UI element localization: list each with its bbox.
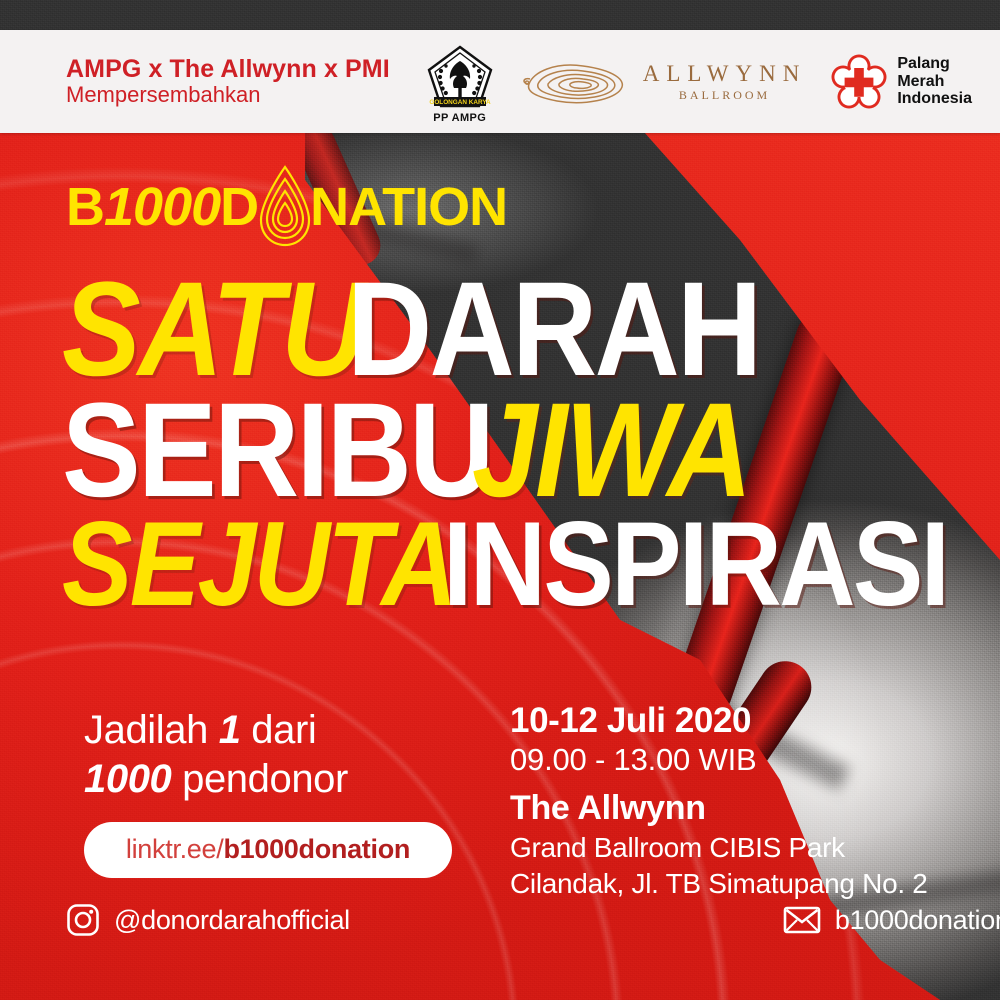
- instagram-handle: @donordarahofficial: [114, 905, 350, 936]
- brand-1000: 1000: [104, 180, 220, 234]
- event-address-line-2: Cilandak, Jl. TB Simatupang No. 2: [510, 866, 980, 901]
- headline-line-3: SEJUTA INSPIRASI: [62, 503, 962, 625]
- cta-word-pendonor: pendonor: [182, 757, 348, 801]
- email-contact[interactable]: b1000donation@gmail.com: [783, 905, 1000, 936]
- header-text-block: AMPG x The Allwynn x PMI Mempersembahkan: [66, 55, 390, 108]
- cta-number-thousand: 1000: [84, 757, 171, 801]
- allwynn-wordmark: ALLWYNN BALLROOM: [643, 62, 807, 101]
- event-date: 10-12 Juli 2020: [510, 700, 980, 741]
- pmi-line-1: Palang: [897, 55, 972, 73]
- linktree-button[interactable]: linktr.ee/b1000donation: [84, 822, 452, 878]
- brand-nation: NATION: [310, 180, 507, 234]
- cta-number-one: 1: [219, 708, 241, 752]
- cta-block: Jadilah 1 dari 1000 pendonor linktr.ee/b…: [84, 706, 484, 878]
- ampg-caption: PP AMPG: [433, 112, 486, 124]
- blood-drop-icon: [256, 163, 314, 259]
- campaign-wordmark: B 1000 D NATION: [66, 176, 507, 238]
- red-cross-icon: [830, 53, 888, 111]
- event-time: 09.00 - 13.00 WIB: [510, 741, 980, 780]
- allwynn-logo: ALLWYNN BALLROOM: [521, 54, 807, 110]
- header-subtitle: Mempersembahkan: [66, 83, 390, 108]
- event-venue: The Allwynn: [510, 786, 980, 830]
- cta-word-jadilah: Jadilah: [84, 708, 208, 752]
- brand-b: B: [66, 180, 104, 234]
- header-bar: AMPG x The Allwynn x PMI Mempersembahkan: [0, 30, 1000, 133]
- brand-d: D: [220, 180, 258, 234]
- instagram-icon: [66, 903, 100, 937]
- pmi-line-2: Merah: [897, 73, 972, 91]
- pmi-wordmark: Palang Merah Indonesia: [897, 55, 972, 109]
- poster-canvas: AMPG x The Allwynn x PMI Mempersembahkan: [0, 0, 1000, 1000]
- link-prefix: linktr.ee/: [126, 834, 224, 865]
- allwynn-sub: BALLROOM: [679, 89, 770, 101]
- pmi-logo: Palang Merah Indonesia: [830, 53, 972, 111]
- event-details-block: 10-12 Juli 2020 09.00 - 13.00 WIB The Al…: [510, 700, 980, 901]
- envelope-icon: [783, 905, 821, 935]
- headline-sejuta: SEJUTA: [62, 503, 455, 625]
- golkar-banner-label: GOLONGAN KARYA: [429, 99, 491, 106]
- link-handle: b1000donation: [223, 834, 410, 865]
- headline-block: SATU DARAH SERIBU JIWA SEJUTA INSPIRASI: [62, 262, 962, 610]
- allwynn-name: ALLWYNN: [643, 62, 807, 85]
- pmi-line-3: Indonesia: [897, 90, 972, 108]
- partner-logo-row: GOLONGAN KARYA PP AMPG: [423, 40, 972, 124]
- event-address-line-1: Grand Ballroom CIBIS Park: [510, 830, 980, 865]
- contact-row: @donordarahofficial b1000donation@gmail.…: [66, 903, 966, 937]
- headline-inspirasi: INSPIRASI: [443, 503, 947, 625]
- cta-tagline: Jadilah 1 dari 1000 pendonor: [84, 706, 484, 804]
- allwynn-contour-icon: [521, 54, 633, 110]
- cta-word-dari: dari: [251, 708, 316, 752]
- ampg-logo: GOLONGAN KARYA PP AMPG: [423, 40, 497, 124]
- header-title: AMPG x The Allwynn x PMI: [66, 55, 390, 83]
- golkar-emblem-icon: GOLONGAN KARYA: [426, 45, 494, 111]
- email-address: b1000donation@gmail.com: [835, 905, 1000, 936]
- instagram-contact[interactable]: @donordarahofficial: [66, 903, 350, 937]
